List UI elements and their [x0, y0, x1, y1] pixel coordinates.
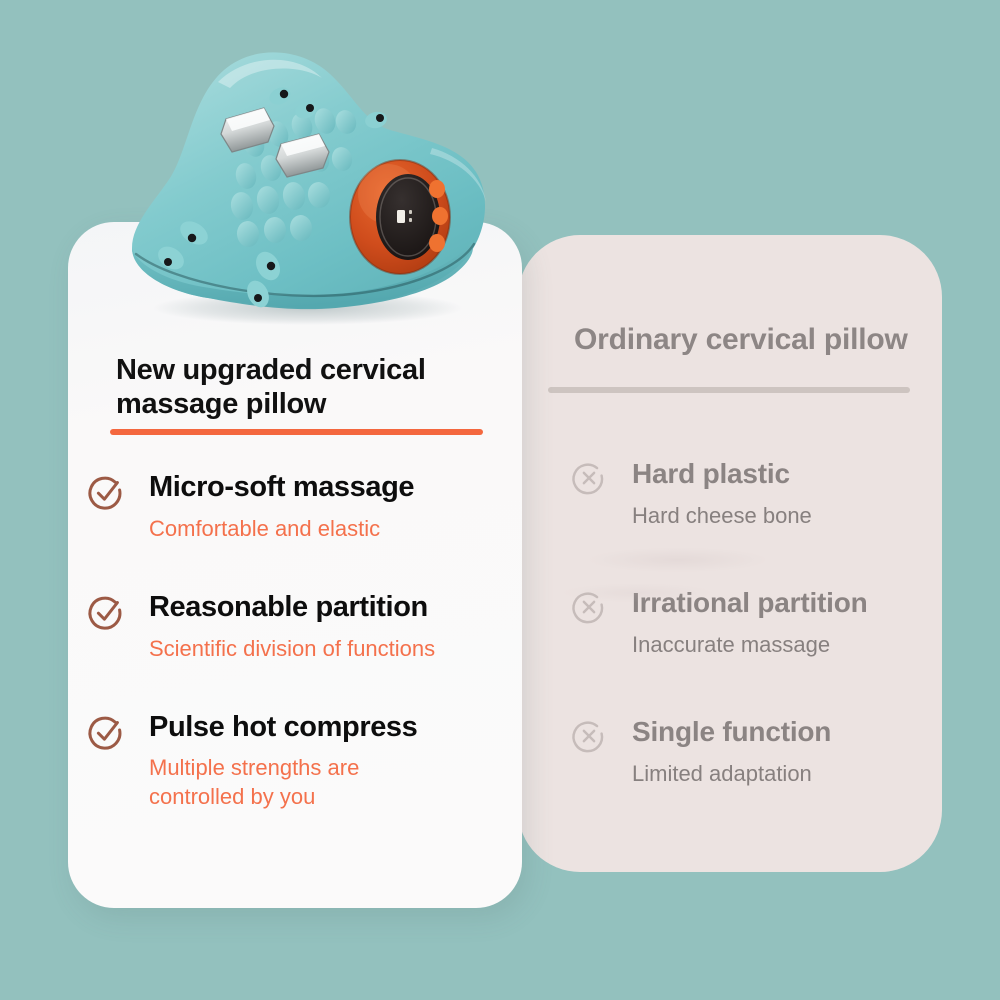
feature-subtitle: Scientific division of functions [149, 634, 449, 663]
list-item: Single function Limited adaptation [570, 715, 940, 787]
check-circle-icon [86, 713, 126, 753]
cervical-massage-pillow-photo [96, 26, 506, 326]
list-item: Hard plastic Hard cheese bone [570, 457, 940, 529]
feature-subtitle: Comfortable and elastic [149, 514, 449, 543]
x-circle-icon [570, 717, 608, 755]
feature-subtitle: Hard cheese bone [632, 502, 940, 530]
list-item: Micro-soft massage Comfortable and elast… [86, 470, 516, 543]
upgraded-card-title: New upgraded cervical massage pillow [116, 354, 506, 421]
feature-title: Irrational partition [632, 586, 940, 620]
ordinary-feature-list: Hard plastic Hard cheese bone Irrational… [570, 457, 940, 787]
feature-title: Hard plastic [632, 457, 940, 491]
feature-title: Micro-soft massage [149, 470, 516, 505]
list-item: Irrational partition Inaccurate massage [570, 586, 940, 658]
feature-subtitle: Inaccurate massage [632, 631, 940, 659]
feature-title: Single function [632, 715, 940, 749]
feature-subtitle: Multiple strengths are controlled by you [149, 753, 449, 811]
upgraded-feature-list: Micro-soft massage Comfortable and elast… [86, 470, 516, 812]
x-circle-icon [570, 588, 608, 626]
feature-title: Pulse hot compress [149, 710, 516, 745]
x-circle-icon [570, 459, 608, 497]
feature-title: Reasonable partition [149, 590, 516, 625]
infographic-canvas: Ordinary cervical pillow Hard plastic Ha… [0, 0, 1000, 1000]
control-module [350, 160, 450, 274]
ordinary-card-divider [548, 387, 910, 393]
list-item: Pulse hot compress Multiple strengths ar… [86, 710, 516, 812]
list-item: Reasonable partition Scientific division… [86, 590, 516, 663]
feature-subtitle: Limited adaptation [632, 760, 940, 788]
ordinary-pillow-card: Ordinary cervical pillow Hard plastic Ha… [518, 235, 942, 872]
check-circle-icon [86, 473, 126, 513]
upgraded-card-underline [110, 429, 483, 435]
ordinary-card-title: Ordinary cervical pillow [574, 323, 908, 357]
check-circle-icon [86, 593, 126, 633]
